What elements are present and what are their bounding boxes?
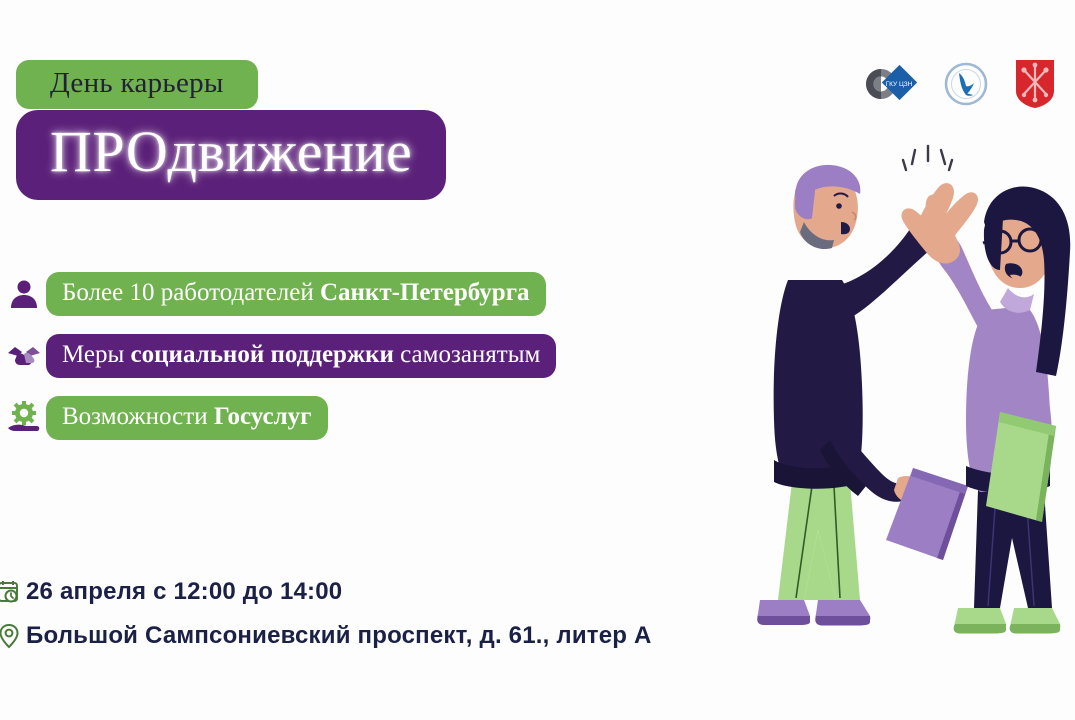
gku-czn-logo-text: ГКУ ЦЗН — [886, 81, 913, 88]
gear-hand-icon — [2, 396, 46, 440]
spb-coat-of-arms-logo — [1013, 58, 1057, 110]
bullet-text-normal: Меры — [62, 341, 131, 368]
page-title: ПРОдвижение — [50, 119, 412, 184]
calendar-clock-icon — [0, 575, 26, 609]
bullet-list: Более 10 работодателей Санкт-Петербурга … — [0, 272, 700, 458]
event-details: 26 апреля с 12:00 до 14:00 Большой Сампс… — [0, 575, 760, 663]
bullet-text-bold: социальной поддержки — [131, 341, 394, 368]
bullet-row: Возможности Госуслуг — [0, 396, 700, 440]
event-date-text: 26 апреля с 12:00 до 14:00 — [26, 578, 342, 606]
event-address-row: Большой Сампсониевский проспект, д. 61.,… — [0, 619, 760, 653]
two-people-high-five-illustration — [700, 130, 1075, 660]
man-eye — [836, 203, 842, 209]
gku-czn-logo: ГКУ ЦЗН — [861, 61, 919, 107]
title-banner: ПРОдвижение — [16, 110, 446, 200]
poster-canvas: День карьеры ПРОдвижение ГКУ ЦЗН — [0, 0, 1075, 720]
bullet-text-bold: Госуслуг — [214, 403, 312, 430]
bullet-row: Меры социальной поддержки самозанятым — [0, 334, 700, 378]
bird-emblem-logo — [941, 59, 991, 109]
bullet-row: Более 10 работодателей Санкт-Петербурга — [0, 272, 700, 316]
event-address-text: Большой Сампсониевский проспект, д. 61.,… — [26, 622, 652, 650]
bullet-text-tail: самозанятым — [394, 341, 540, 368]
bullet-pill: Возможности Госуслуг — [46, 396, 328, 440]
event-date-row: 26 апреля с 12:00 до 14:00 — [0, 575, 760, 609]
logo-group: ГКУ ЦЗН — [861, 58, 1057, 110]
bullet-text-normal: Возможности — [62, 403, 214, 430]
kicker-badge: День карьеры — [16, 60, 258, 109]
location-pin-icon — [0, 619, 26, 653]
bullet-pill: Более 10 работодателей Санкт-Петербурга — [46, 272, 546, 316]
bullet-text-bold: Санкт-Петербурга — [320, 279, 530, 306]
bullet-text-normal: Более 10 работодателей — [62, 279, 320, 306]
handshake-icon — [2, 334, 46, 378]
bullet-pill: Меры социальной поддержки самозанятым — [46, 334, 556, 378]
person-icon — [2, 272, 46, 316]
spark-lines — [903, 146, 952, 170]
